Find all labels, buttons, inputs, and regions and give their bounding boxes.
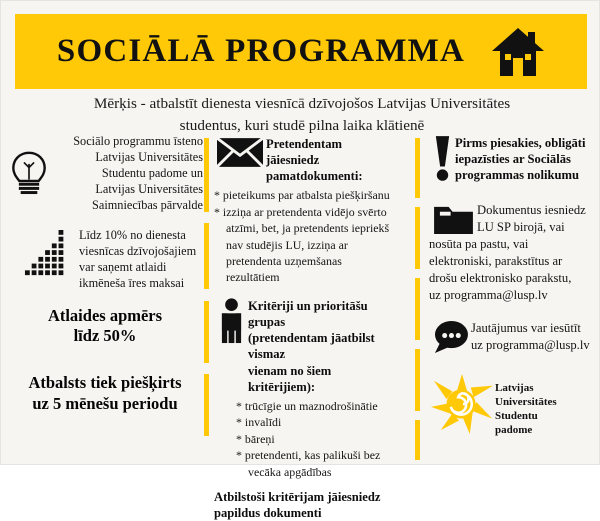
- lightbulb-icon: [7, 134, 51, 198]
- subtitle-line-2: studentus, kuri studē pilna laika klātie…: [29, 115, 575, 137]
- middle-column: Pretendentam jāiesniedz pamatdokumenti: …: [214, 134, 396, 521]
- text-line: Jautājumus var iesūtīt: [471, 320, 595, 337]
- bar-chart-icon: [7, 228, 79, 278]
- text-line: programmas nolikumu: [455, 167, 595, 183]
- subtitle-line-1: Mērķis - atbalstīt dienesta viesnīcā dzī…: [29, 93, 575, 115]
- text-line: Universitātes: [495, 396, 595, 410]
- middle-block-documents: Pretendentam jāiesniedz pamatdokumenti:: [214, 134, 396, 184]
- text-line: Saimniecības pārvalde: [51, 198, 203, 214]
- right-block-regulations: Pirms piesakies, obligāti iepazīsties ar…: [429, 134, 595, 183]
- list-item-cont: nav studējis LU, izziņa ar: [214, 238, 396, 253]
- list-item: * pieteikums par atbalsta piešķiršanu: [214, 188, 396, 203]
- envelope-icon: [214, 134, 266, 168]
- list-item: * bāreņi: [236, 432, 396, 447]
- list-item: * invalīdi: [236, 415, 396, 430]
- right-block-regulations-text: Pirms piesakies, obligāti iepazīsties ar…: [455, 134, 595, 183]
- person-icon: [214, 296, 248, 344]
- sun-spiral-logo: [429, 374, 495, 434]
- list-item: * izziņa ar pretendenta vidējo svērto: [214, 205, 396, 220]
- lusp-logo-text: Latvijas Universitātes Studentu padome: [495, 374, 595, 438]
- middle-block-criteria-footer: Atbilstoši kritērijam jāiesniedz papildu…: [214, 489, 396, 521]
- divider-right-4: [415, 349, 420, 411]
- header-band: SOCIĀLĀ PROGRAMMA: [15, 14, 587, 89]
- text-line: Atlaides apmērs: [7, 306, 203, 327]
- text-line: (pretendentam jāatbilst vismaz: [248, 330, 396, 362]
- house-icon: [491, 26, 545, 78]
- left-block-discount-share-text: Līdz 10% no dienesta viesnīcas dzīvojoša…: [79, 228, 203, 292]
- text-line: uz programma@lusp.lv: [429, 287, 595, 304]
- list-item-cont: atzīmi, bet, ja pretendents iepriekš: [214, 221, 396, 236]
- left-block-implementers-text: Sociālo programmu īsteno Latvijas Univer…: [51, 134, 203, 214]
- list-item-cont: pretendenta uzņemšanas rezultātiem: [214, 254, 396, 285]
- speech-bubble-icon: [429, 319, 471, 353]
- divider-left-2: [204, 223, 209, 289]
- divider-right-5: [415, 420, 420, 460]
- middle-block-documents-heading: Pretendentam jāiesniedz pamatdokumenti:: [266, 134, 396, 184]
- text-line: līdz 50%: [7, 326, 203, 347]
- right-block-questions-text: Jautājumus var iesūtīt uz programma@lusp…: [471, 319, 595, 353]
- text-line: Kritēriji un prioritāšu grupas: [248, 298, 396, 330]
- left-block-discount-share: Līdz 10% no dienesta viesnīcas dzīvojoša…: [7, 228, 203, 292]
- list-item: * pretendenti, kas palikuši bez: [236, 448, 396, 463]
- left-block-support-period: Atbalsts tiek piešķirts uz 5 mēnešu peri…: [7, 373, 203, 414]
- divider-right-1: [415, 138, 420, 198]
- left-block-support-period-text: Atbalsts tiek piešķirts uz 5 mēnešu peri…: [7, 373, 203, 414]
- divider-right-3: [415, 278, 420, 340]
- divider-right-2: [415, 207, 420, 269]
- text-line: pamatdokumenti:: [266, 168, 396, 184]
- divider-left-1: [204, 138, 209, 212]
- text-line: Studentu padome un: [51, 166, 203, 182]
- text-line: Atbalsts tiek piešķirts: [7, 373, 203, 394]
- folder-icon: [429, 199, 477, 236]
- text-line: drošu elektronisko parakstu,: [429, 270, 595, 287]
- text-line: LU SP birojā, vai: [477, 219, 595, 236]
- divider-left-3: [204, 301, 209, 363]
- page-title: SOCIĀLĀ PROGRAMMA: [57, 33, 465, 70]
- list-item-cont: vecāka apgādības: [236, 465, 396, 480]
- text-line: padome: [495, 424, 595, 438]
- middle-block-documents-list: * pieteikums par atbalsta piešķiršanu * …: [214, 188, 396, 285]
- left-block-implementers: Sociālo programmu īsteno Latvijas Univer…: [7, 134, 203, 214]
- right-block-submission: Dokumentus iesniedz LU SP birojā, vai no…: [429, 199, 595, 303]
- right-block-submission-head: Dokumentus iesniedz LU SP birojā, vai: [477, 199, 595, 235]
- text-line: papildus dokumenti: [214, 505, 396, 521]
- middle-block-criteria-list: * trūcīgie un maznodrošinātie * invalīdi…: [214, 399, 396, 480]
- right-block-submission-body: nosūta pa pastu, vai elektroniski, parak…: [429, 236, 595, 303]
- text-line: Latvijas: [495, 382, 595, 396]
- right-block-questions: Jautājumus var iesūtīt uz programma@lusp…: [429, 319, 595, 353]
- text-line: Dokumentus iesniedz: [477, 202, 595, 219]
- text-line: Pretendentam jāiesniedz: [266, 136, 396, 168]
- text-line: Līdz 10% no dienesta: [79, 228, 203, 244]
- poster-root: SOCIĀLĀ PROGRAMMA Mērķis - atbalstīt die…: [0, 0, 600, 465]
- text-line: uz 5 mēnešu periodu: [7, 394, 203, 415]
- text-line: viesnīcas dzīvojošajiem: [79, 244, 203, 260]
- text-line: ikmēneša īres maksai: [79, 276, 203, 292]
- text-line: Sociālo programmu īsteno: [51, 134, 203, 150]
- text-line: uz programma@lusp.lv: [471, 337, 595, 354]
- middle-block-criteria-heading: Kritēriji un prioritāšu grupas (pretende…: [248, 296, 396, 395]
- text-line: iepazīsties ar Sociālās: [455, 151, 595, 167]
- text-line: elektroniski, parakstītus ar: [429, 253, 595, 270]
- text-line: Latvijas Universitātes: [51, 150, 203, 166]
- lusp-logo-block: Latvijas Universitātes Studentu padome: [429, 374, 595, 438]
- left-block-discount-amount-text: Atlaides apmērs līdz 50%: [7, 306, 203, 347]
- text-line: var saņemt atlaidi: [79, 260, 203, 276]
- subtitle: Mērķis - atbalstīt dienesta viesnīcā dzī…: [29, 93, 575, 136]
- text-line: Atbilstoši kritērijam jāiesniedz: [214, 489, 396, 505]
- exclamation-icon: [429, 134, 455, 181]
- text-line: Pirms piesakies, obligāti: [455, 135, 595, 151]
- text-line: Studentu: [495, 410, 595, 424]
- text-line: nosūta pa pastu, vai: [429, 236, 595, 253]
- text-line: vienam no šiem kritērijiem):: [248, 363, 396, 395]
- left-block-discount-amount: Atlaides apmērs līdz 50%: [7, 306, 203, 347]
- text-line: Latvijas Universitātes: [51, 182, 203, 198]
- left-column: Sociālo programmu īsteno Latvijas Univer…: [7, 134, 203, 423]
- divider-left-4: [204, 374, 209, 436]
- list-item: * trūcīgie un maznodrošinātie: [236, 399, 396, 414]
- right-column: Pirms piesakies, obligāti iepazīsties ar…: [429, 134, 595, 447]
- middle-block-criteria: Kritēriji un prioritāšu grupas (pretende…: [214, 296, 396, 395]
